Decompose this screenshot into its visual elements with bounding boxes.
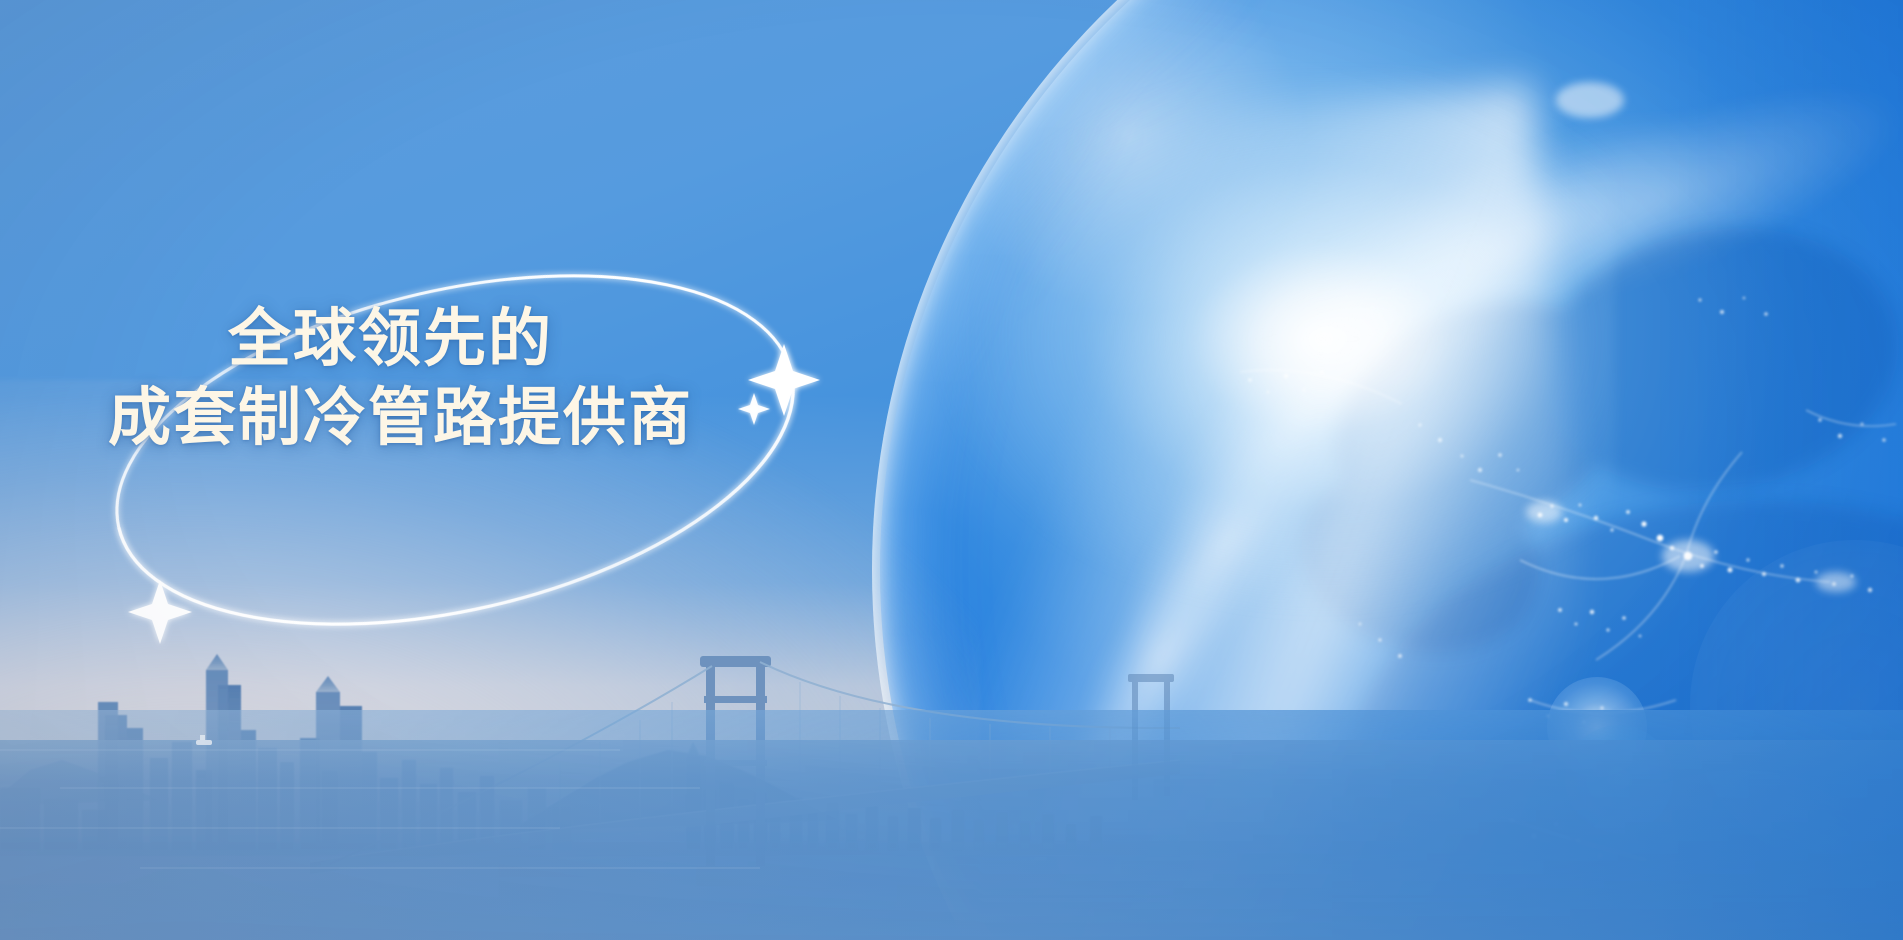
headline-line-1: 全球领先的: [228, 300, 868, 379]
water-reflections: [0, 710, 1903, 940]
headline-line-2: 成套制冷管路提供商: [108, 379, 868, 458]
sunrise-glow: [915, 70, 1615, 630]
headline-block: 全球领先的 成套制冷管路提供商: [108, 300, 868, 458]
hero-banner: 全球领先的 成套制冷管路提供商: [0, 0, 1903, 940]
